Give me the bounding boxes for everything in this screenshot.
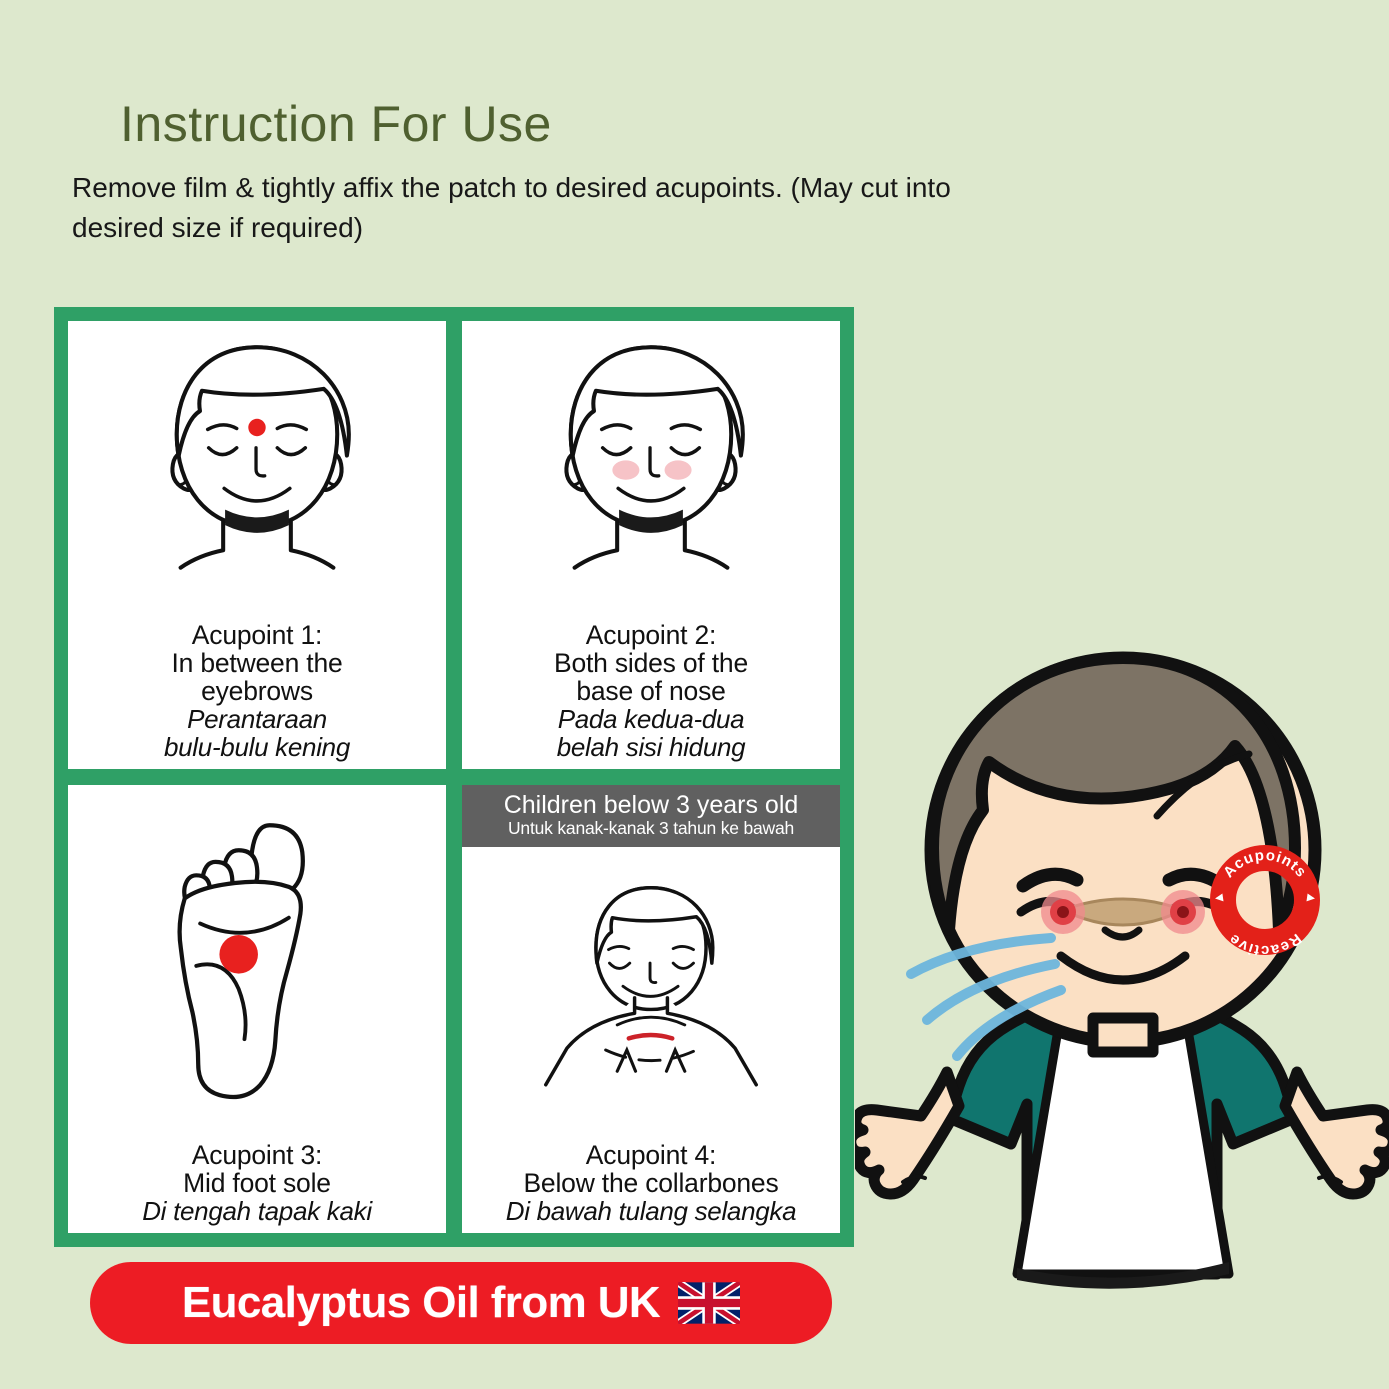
- acupoints-reactive-badge: Acupoints Reactive: [1205, 840, 1325, 960]
- page-title: Instruction For Use: [120, 95, 552, 153]
- panel-acupoint-2: Acupoint 2: Both sides of the base of no…: [462, 321, 840, 769]
- figure-face-nose-sides: [462, 321, 840, 621]
- caption-acupoint-1: Acupoint 1: In between the eyebrows Pera…: [68, 621, 446, 769]
- acupoint-dot: [219, 935, 258, 974]
- banner-line-en: Children below 3 years old: [466, 792, 836, 818]
- caption-en-line: Mid foot sole: [183, 1168, 331, 1198]
- uk-flag-icon: [678, 1282, 740, 1324]
- instruction-poster: Instruction For Use Remove film & tightl…: [0, 0, 1389, 1389]
- caption-en-line: Both sides of the: [554, 648, 748, 678]
- acupoint-dot: [1041, 890, 1085, 934]
- acupoint-dot: [612, 460, 639, 479]
- face-front-icon: [525, 326, 777, 616]
- panel-acupoint-3: Acupoint 3: Mid foot sole Di tengah tapa…: [68, 785, 446, 1233]
- caption-ms-line: Perantaraan: [187, 704, 327, 734]
- promo-label: Eucalyptus Oil from UK: [182, 1278, 660, 1328]
- face-front-icon: [131, 326, 383, 616]
- foot-sole-icon: [145, 804, 369, 1122]
- figure-face-forehead: [68, 321, 446, 621]
- caption-acupoint-2: Acupoint 2: Both sides of the base of no…: [462, 621, 840, 769]
- child-illustration: [855, 620, 1389, 1320]
- caption-acupoint-4: Acupoint 4: Below the collarbones Di baw…: [462, 1141, 840, 1233]
- caption-en-line: Acupoint 2:: [586, 620, 716, 650]
- acupoint-grid: Acupoint 1: In between the eyebrows Pera…: [54, 307, 854, 1247]
- caption-en-line: base of nose: [576, 676, 725, 706]
- acupoint-dot: [1161, 890, 1205, 934]
- caption-acupoint-3: Acupoint 3: Mid foot sole Di tengah tapa…: [68, 1141, 446, 1233]
- promo-banner: Eucalyptus Oil from UK: [90, 1262, 832, 1344]
- figure-torso-collarbone: [462, 847, 840, 1140]
- caption-en-line: Below the collarbones: [523, 1168, 778, 1198]
- caption-en-line: In between the: [171, 648, 342, 678]
- caption-ms-line: belah sisi hidung: [557, 732, 746, 762]
- caption-ms-line: Pada kedua-dua: [558, 704, 745, 734]
- badge-icon: Acupoints Reactive: [1205, 840, 1325, 960]
- panel-acupoint-4: Children below 3 years old Untuk kanak-k…: [462, 785, 840, 1233]
- caption-ms-line: Di tengah tapak kaki: [142, 1196, 372, 1226]
- caption-en-line: Acupoint 1:: [192, 620, 322, 650]
- torso-front-icon: [511, 878, 791, 1110]
- mascot-child: [855, 620, 1389, 1320]
- instructions-text: Remove film & tightly affix the patch to…: [72, 168, 972, 248]
- figure-foot-sole: [68, 785, 446, 1141]
- acupoint-dot: [248, 419, 265, 436]
- caption-ms-line: bulu-bulu kening: [164, 732, 350, 762]
- caption-en-line: Acupoint 3:: [192, 1140, 322, 1170]
- caption-ms-line: Di bawah tulang selangka: [506, 1196, 797, 1226]
- banner-line-ms: Untuk kanak-kanak 3 tahun ke bawah: [466, 818, 836, 838]
- caption-en-line: eyebrows: [201, 676, 313, 706]
- acupoint-dot: [629, 1035, 672, 1038]
- caption-en-line: Acupoint 4:: [586, 1140, 716, 1170]
- acupoint-dot: [665, 460, 692, 479]
- panel-acupoint-1: Acupoint 1: In between the eyebrows Pera…: [68, 321, 446, 769]
- children-age-banner: Children below 3 years old Untuk kanak-k…: [462, 785, 840, 847]
